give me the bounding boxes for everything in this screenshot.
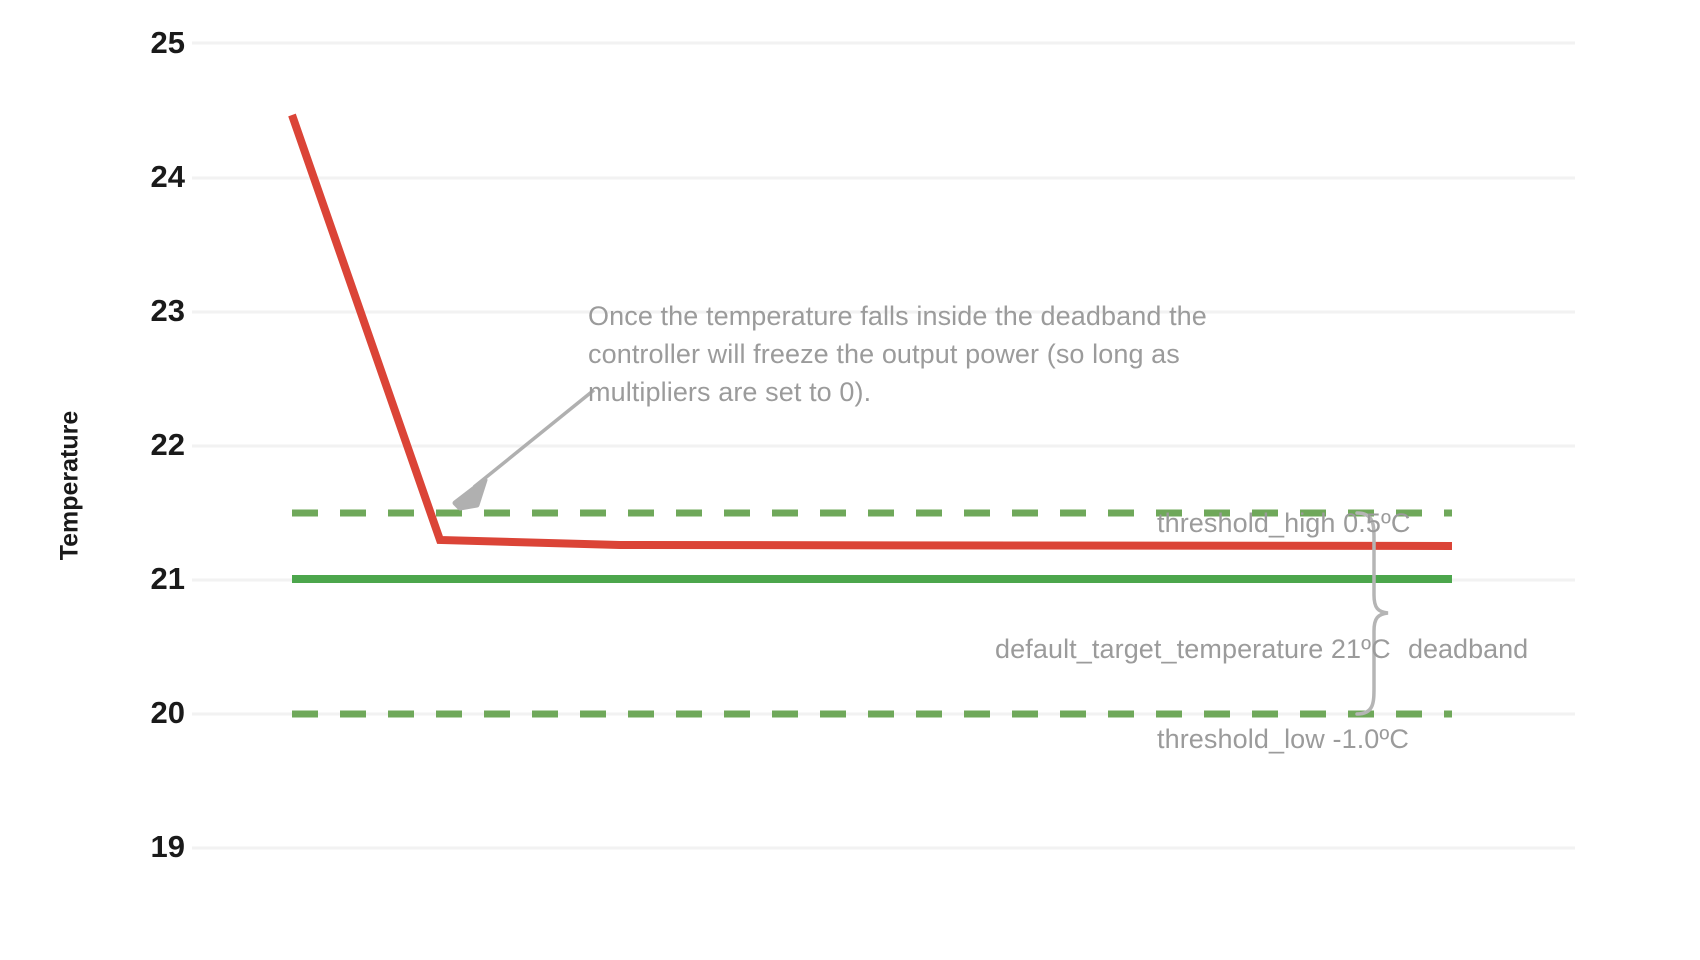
annotation-arrow (455, 390, 594, 508)
temperature-deadband-chart (0, 0, 1700, 960)
y-tick-20: 20 (125, 695, 185, 731)
chart-canvas: 25 24 23 22 21 20 19 Temperature Once th… (0, 0, 1700, 960)
deadband-explainer-text: Once the temperature falls inside the de… (588, 297, 1318, 411)
deadband-brace-label: deadband (1408, 634, 1528, 665)
y-tick-22: 22 (125, 427, 185, 463)
target-temperature-label: default_target_temperature 21ºC (995, 634, 1391, 665)
y-axis-title: Temperature (56, 376, 85, 596)
y-tick-24: 24 (125, 159, 185, 195)
y-tick-23: 23 (125, 293, 185, 329)
threshold-high-label: threshold_high 0.5ºC (1157, 508, 1411, 539)
y-tick-25: 25 (125, 25, 185, 61)
y-tick-21: 21 (125, 561, 185, 597)
threshold-low-label: threshold_low -1.0ºC (1157, 724, 1409, 755)
y-tick-19: 19 (125, 829, 185, 865)
